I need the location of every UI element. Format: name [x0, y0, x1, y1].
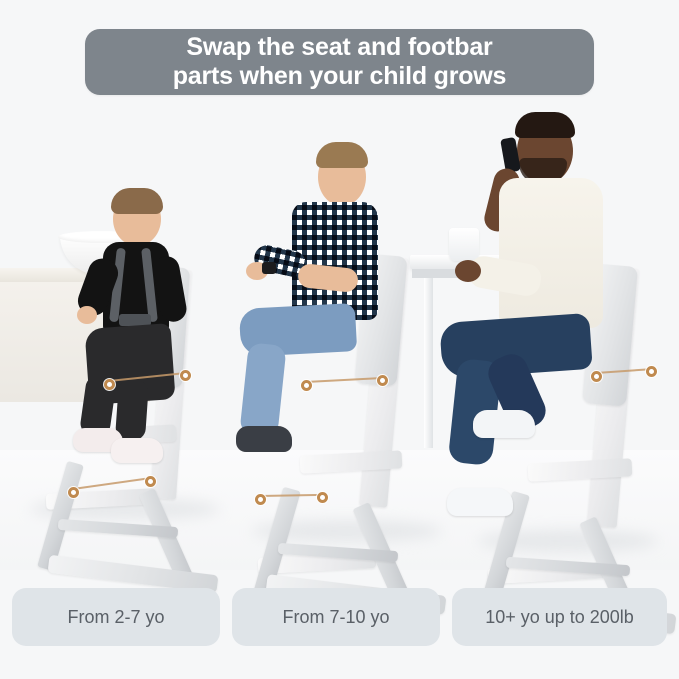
figure-teen — [240, 138, 390, 438]
age-pill-2[interactable]: From 7-10 yo — [232, 588, 440, 646]
callout-dot-toddler-footbar-left — [68, 487, 79, 498]
headline-banner: Swap the seat and footbar parts when you… — [85, 29, 594, 95]
callout-dot-teen-footbar-left — [255, 494, 266, 505]
age-pill-2-label: From 7-10 yo — [282, 607, 389, 628]
teen-shin — [239, 342, 286, 437]
callout-dot-teen-seat-left — [301, 380, 312, 391]
adult-shoe-lower — [447, 488, 513, 516]
toddler-hair — [111, 188, 163, 214]
callout-dot-teen-seat-right — [377, 375, 388, 386]
toddler-shoe-right — [111, 438, 163, 463]
age-pill-3-label: 10+ yo up to 200lb — [485, 607, 634, 628]
figure-toddler — [85, 190, 205, 440]
callout-dot-teen-footbar-right — [317, 492, 328, 503]
age-pill-3[interactable]: 10+ yo up to 200lb — [452, 588, 667, 646]
toddler-hand-left — [77, 306, 97, 324]
headline-line-1: Swap the seat and footbar — [186, 33, 492, 62]
teen-hair — [316, 142, 368, 168]
age-range-pills: From 2-7 yo From 7-10 yo 10+ yo up to 20… — [0, 588, 679, 650]
adult-hair — [515, 112, 575, 138]
product-feature-image: Swap the seat and footbar parts when you… — [0, 0, 679, 679]
teen-watch — [262, 262, 276, 274]
adult-shoe-upper — [473, 410, 535, 438]
callout-dot-toddler-footbar-right — [145, 476, 156, 487]
toddler-shin-right — [115, 379, 149, 441]
teen-shoe — [236, 426, 292, 452]
callout-dot-toddler-seat-right — [180, 370, 191, 381]
product-scene — [0, 100, 679, 570]
headline-line-2: parts when your child grows — [173, 62, 507, 91]
desk-leg-front — [424, 278, 433, 448]
callout-dot-adult-seat-right — [646, 366, 657, 377]
callout-dot-adult-seat-left — [591, 371, 602, 382]
figure-adult — [445, 110, 645, 450]
adult-torso — [499, 178, 603, 328]
age-pill-1[interactable]: From 2-7 yo — [12, 588, 220, 646]
age-pill-1-label: From 2-7 yo — [67, 607, 164, 628]
callout-dot-toddler-seat-left — [104, 379, 115, 390]
adult-hand-left — [455, 260, 481, 282]
